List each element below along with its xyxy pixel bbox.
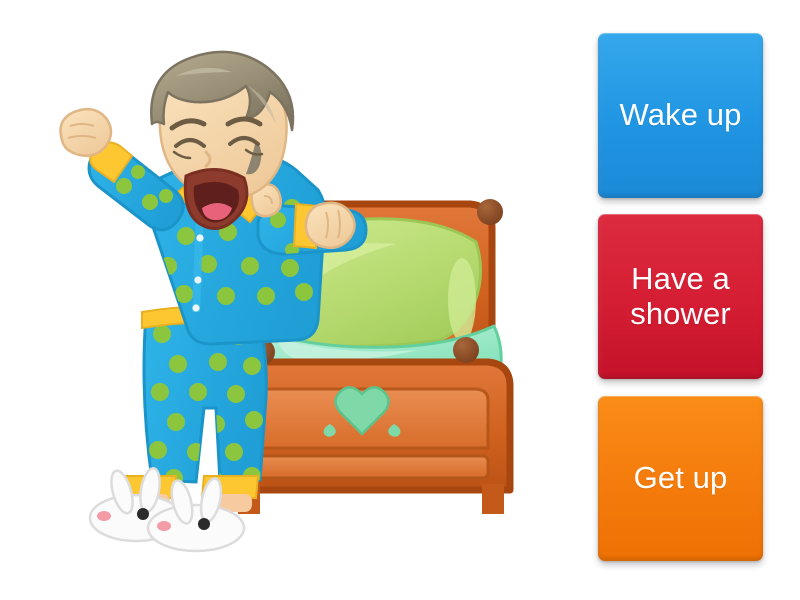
bed-footboard xyxy=(236,362,510,514)
answer-tile-label: Have a shower xyxy=(630,262,731,331)
answer-tile-label: Get up xyxy=(634,461,728,496)
answer-tile-get-up[interactable]: Get up xyxy=(598,396,763,561)
quiz-stage: Wake up Have a shower Get up xyxy=(0,0,800,600)
answer-tile-label: Wake up xyxy=(620,98,742,133)
answer-tile-have-a-shower[interactable]: Have a shower xyxy=(598,214,763,379)
left-fist xyxy=(61,109,112,156)
illustration-waking-up-boy xyxy=(0,0,580,600)
right-fist xyxy=(306,203,355,248)
answer-tile-wake-up[interactable]: Wake up xyxy=(598,33,763,198)
answer-tiles-column: Wake up Have a shower Get up xyxy=(596,0,800,600)
